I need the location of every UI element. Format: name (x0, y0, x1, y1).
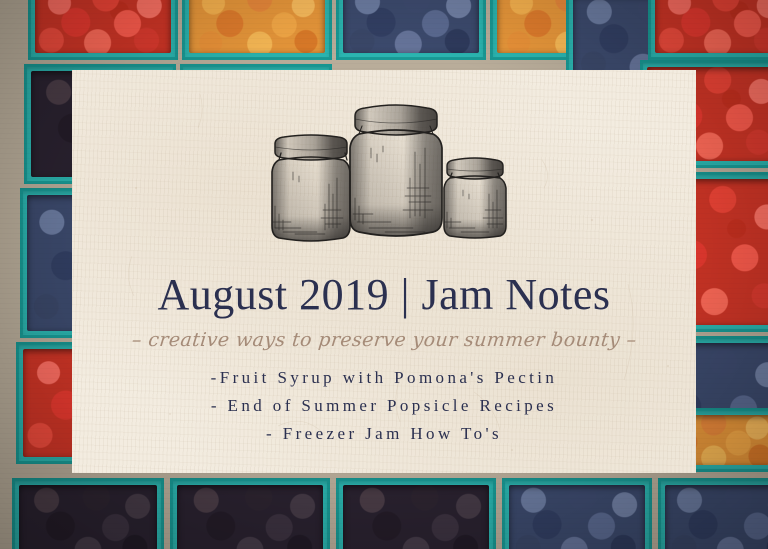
subtitle-script: – creative ways to preserve your summer … (131, 329, 638, 351)
topic-list: -Fruit Syrup with Pomona's Pectin- End o… (211, 368, 558, 444)
page-title: August 2019 | Jam Notes (158, 272, 611, 318)
topic-list-item: -Fruit Syrup with Pomona's Pectin (211, 368, 558, 388)
jars-svg (259, 102, 509, 250)
jar-medium (272, 135, 350, 241)
topic-list-item: - End of Summer Popsicle Recipes (211, 396, 557, 416)
cream-paper-card: August 2019 | Jam Notes – creative ways … (72, 70, 696, 473)
jam-notes-poster: August 2019 | Jam Notes – creative ways … (0, 0, 768, 549)
jar-small (444, 158, 506, 238)
topic-list-item: - Freezer Jam How To's (266, 424, 502, 444)
three-mason-jars-illustration (259, 102, 509, 250)
jar-large (350, 105, 442, 236)
